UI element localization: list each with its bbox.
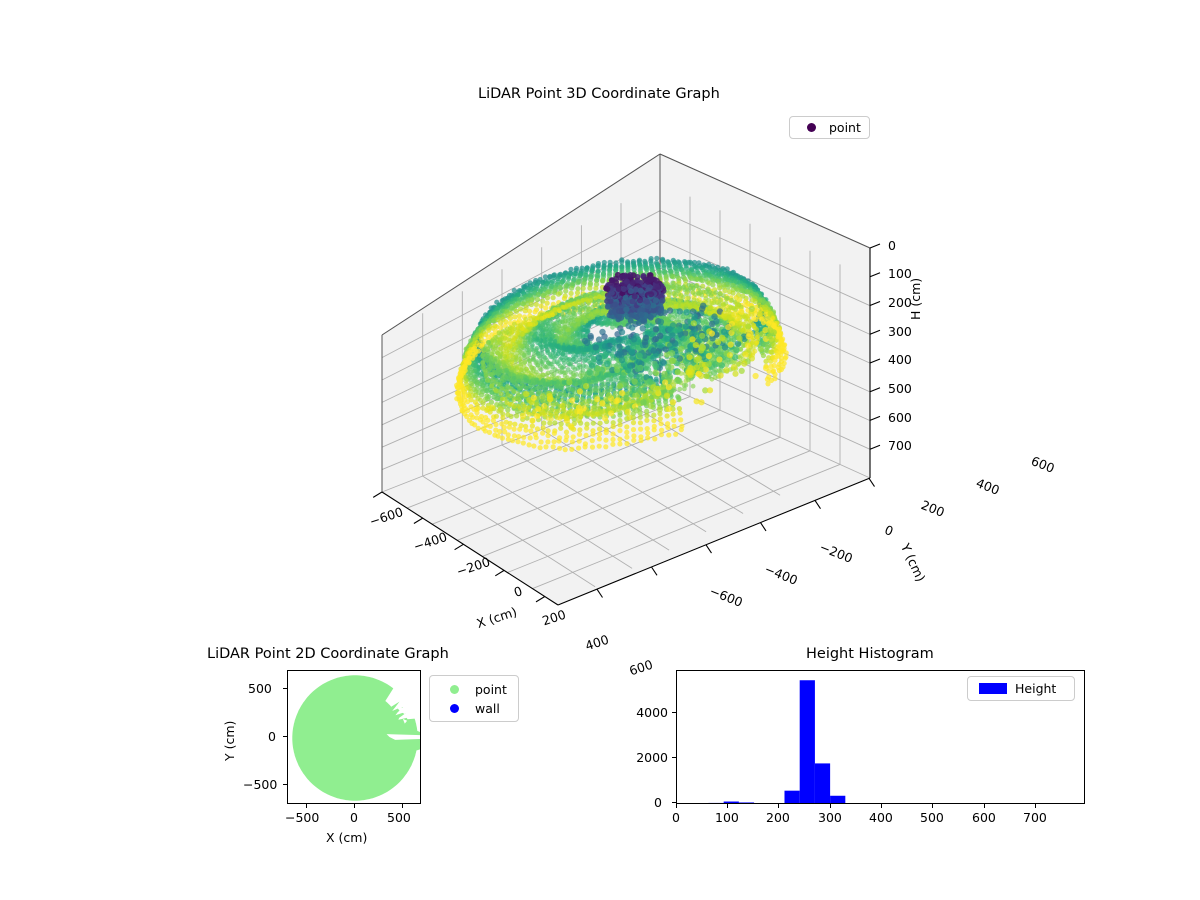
point-marker-icon <box>807 123 816 132</box>
legend-row-height: Height <box>975 681 1067 696</box>
y3d-tick-400: 400 <box>974 475 1002 498</box>
yhist-tick-0: 0 <box>654 795 662 810</box>
y2d-tick-0: 0 <box>268 729 276 744</box>
legend-row-wall: wall <box>437 699 511 718</box>
y2d-tick-500: 500 <box>248 681 272 696</box>
xhist-tickmark-400 <box>881 804 882 808</box>
yhist-tick-2000: 2000 <box>636 750 668 765</box>
h3d-tick-500: 500 <box>888 381 912 396</box>
axes-2d-scatter[interactable] <box>287 670 421 804</box>
legend-marker-slot <box>437 704 471 713</box>
x2d-tickmark-0 <box>354 804 355 808</box>
xhist-tickmark-200 <box>778 804 779 808</box>
y2d-axis-label: Y (cm) <box>222 721 237 761</box>
xhist-tickmark-500 <box>932 804 933 808</box>
yhist-tick-4000: 4000 <box>636 705 668 720</box>
scatter-2d-canvas <box>287 670 421 804</box>
xhist-tickmark-100 <box>727 804 728 808</box>
y2d-tickmark-500 <box>283 688 287 689</box>
legend-label-point: point <box>471 682 507 697</box>
y2d-tickmark--500 <box>283 784 287 785</box>
legend-marker-slot <box>437 685 471 694</box>
legend-row-point: point <box>797 121 862 134</box>
xhist-tick-500: 500 <box>920 810 944 825</box>
legend-marker-slot <box>975 683 1011 694</box>
point-cloud-2d <box>292 675 421 800</box>
wall-marker-icon <box>450 704 459 713</box>
legend-3d: point <box>789 116 870 139</box>
yhist-tickmark-4000 <box>672 712 676 713</box>
xhist-tick-700: 700 <box>1023 810 1047 825</box>
yhist-tickmark-2000 <box>672 757 676 758</box>
h3d-tick-600: 600 <box>888 410 912 425</box>
x3d-tick-400: 400 <box>583 632 610 654</box>
xhist-tick-100: 100 <box>715 810 739 825</box>
y3d-tick-600: 600 <box>1029 453 1057 476</box>
axes-3d-scatter[interactable]: −600 −400 −200 0 200 400 600 X (cm) −600… <box>340 140 940 630</box>
point-marker-icon <box>450 685 459 694</box>
plot-2d-title: LiDAR Point 2D Coordinate Graph <box>207 646 449 662</box>
legend-label-point: point <box>825 120 861 135</box>
legend-2d: point wall <box>429 675 519 722</box>
legend-label-wall: wall <box>471 701 500 716</box>
x2d-tickmark--500 <box>306 804 307 808</box>
height-patch-icon <box>979 683 1007 694</box>
legend-marker-slot <box>797 123 825 132</box>
plot-3d-title: LiDAR Point 3D Coordinate Graph <box>478 86 720 102</box>
xhist-tick-400: 400 <box>869 810 893 825</box>
x2d-tickmark-500 <box>402 804 403 808</box>
yhist-tickmark-0 <box>672 802 676 803</box>
legend-label-height: Height <box>1011 681 1056 696</box>
xhist-tick-300: 300 <box>818 810 842 825</box>
plot-hist-title: Height Histogram <box>806 646 934 662</box>
legend-row-point: point <box>437 680 511 699</box>
x2d-tick--500: −500 <box>285 810 319 825</box>
h3d-tick-400: 400 <box>888 352 912 367</box>
x2d-tick-0: 0 <box>350 810 358 825</box>
matplotlib-figure: LiDAR Point 3D Coordinate Graph point <box>0 0 1200 900</box>
histogram-bars <box>693 680 845 804</box>
h3d-tick-300: 300 <box>888 324 912 339</box>
legend-hist: Height <box>967 676 1075 701</box>
h3d-axis-label: H (cm) <box>908 278 923 320</box>
xhist-tick-200: 200 <box>766 810 790 825</box>
y2d-tickmark-0 <box>283 736 287 737</box>
x2d-tick-500: 500 <box>387 810 411 825</box>
h3d-tick-0: 0 <box>888 238 896 253</box>
xhist-tickmark-0 <box>676 804 677 808</box>
xhist-tick-0: 0 <box>672 810 680 825</box>
x3d-tick-600: 600 <box>627 657 654 679</box>
y2d-tick--500: −500 <box>243 777 277 792</box>
h3d-tick-700: 700 <box>888 438 912 453</box>
xhist-tick-600: 600 <box>972 810 996 825</box>
x2d-axis-label: X (cm) <box>326 830 367 845</box>
xhist-tickmark-600 <box>984 804 985 808</box>
xhist-tickmark-700 <box>1035 804 1036 808</box>
xhist-tickmark-300 <box>830 804 831 808</box>
